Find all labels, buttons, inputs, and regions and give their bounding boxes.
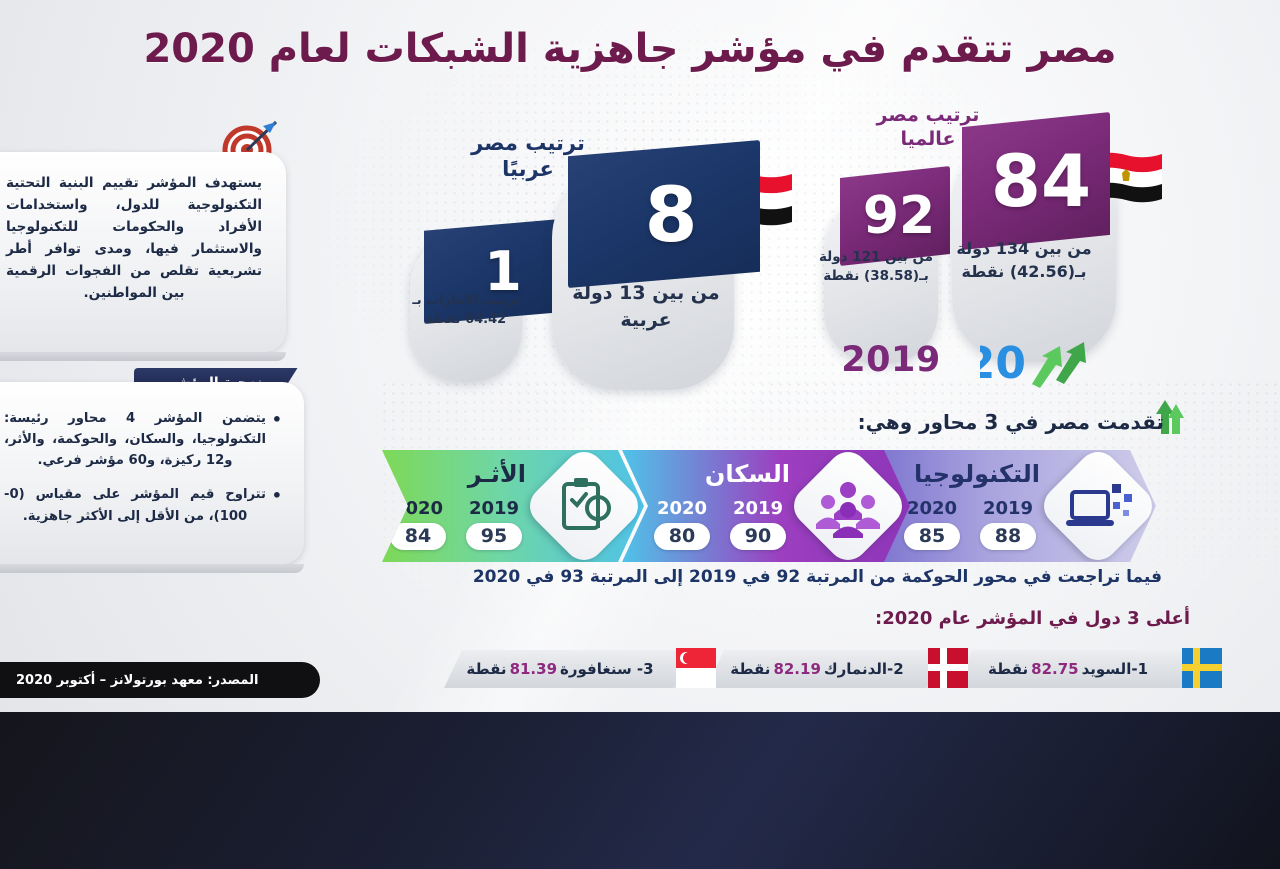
year-label-2020: 2020 (654, 498, 710, 519)
pillar-population-title: السكان (705, 460, 790, 488)
pillar-technology-2019: 2019 88 (980, 498, 1036, 550)
top-country-1-score: 82.75 (1031, 660, 1078, 678)
egypt-arab-rank-number: 8 (568, 140, 760, 288)
pillar-population: السكان 2019 90 2020 80 (622, 450, 910, 562)
pillar-population-2020: 2020 80 (654, 498, 710, 550)
infographic-page: مصر تتقدم في مؤشر جاهزية الشبكات لعام 20… (0, 0, 1280, 869)
denmark-flag-icon (928, 648, 968, 688)
pillar-population-2019: 2019 90 (730, 498, 786, 550)
global-2020-band: 84 (962, 112, 1110, 250)
methodology-item: تتراوح قيم المؤشر على مقياس (0-100)، من … (4, 484, 282, 526)
egypt-arab-rank-caption: من بين 13 دولة عربية (560, 280, 732, 334)
top-country-2-score: 82.19 (773, 660, 820, 678)
pillar-impact-years: 2019 95 2020 84 (390, 498, 522, 550)
pillar-technology: التكنولوجيا 2019 88 2020 85 (880, 450, 1156, 562)
year-label-2020: 2020 (904, 498, 960, 519)
axes-heading: تقدمت مصر في 3 محاور وهي: (858, 410, 1164, 434)
pillar-technology-title: التكنولوجيا (914, 460, 1040, 488)
clipboard-check-icon (522, 444, 646, 568)
global-2020-year-graphic: 20 20 (980, 330, 1100, 388)
pillar-population-value-2019: 90 (730, 523, 786, 550)
global-2019-caption: من بين 121 دولة بـ(38.58) نقطة (818, 248, 934, 286)
year-label-2019: 2019 (980, 498, 1036, 519)
year-label-2019: 2019 (730, 498, 786, 519)
pillar-population-years: 2019 90 2020 80 (654, 498, 786, 550)
egypt-arab-rank-band: 8 (568, 140, 760, 288)
methodology-item: يتضمن المؤشر 4 محاور رئيسة: التكنولوجيا،… (4, 408, 282, 471)
uae-rank-caption: ترتيب الإمارات بـ 64.42 نقطة (400, 292, 532, 330)
pillars-strip: التكنولوجيا 2019 88 2020 85 (400, 450, 1156, 562)
global-2019-year-label: 2019 (836, 340, 946, 380)
top-country-1: 1-السويد 82.75 نقطة (954, 650, 1182, 688)
pillar-technology-2020: 2020 85 (904, 498, 960, 550)
top-country-3-unit: نقطة (466, 660, 506, 678)
footer: مؤشر جاهزية الشبكات مجلس الوزراء المصرى … (0, 712, 1280, 869)
page-title: مصر تتقدم في مؤشر جاهزية الشبكات لعام 20… (130, 26, 1130, 72)
top-country-3-score: 81.39 (510, 660, 557, 678)
top-country-2-unit: نقطة (730, 660, 770, 678)
pillar-impact: الأثـر 2019 95 2020 84 (382, 450, 644, 562)
source-strip: المصدر: معهد بورتولانز – أكتوبر 2020 (0, 662, 320, 698)
objective-text: يستهدف المؤشر تقييم البنية التحتية التكن… (0, 152, 286, 318)
sweden-flag-icon (1182, 648, 1222, 688)
top-country-1-name: 1-السويد (1082, 660, 1148, 678)
top-country-3-name: 3- سنغافورة (560, 660, 654, 678)
top-country-1-unit: نقطة (988, 660, 1028, 678)
top-countries-heading: أعلى 3 دول في المؤشر عام 2020: (875, 608, 1190, 629)
global-2020-caption: من بين 134 دولة بـ(42.56) نقطة (948, 238, 1100, 283)
singapore-flag-icon (676, 648, 716, 688)
svg-text:20: 20 (980, 338, 1026, 388)
top-country-2: 2-الدنمارك 82.19 نقطة (706, 650, 928, 688)
pillar-impact-value-2019: 95 (466, 523, 522, 550)
pillar-population-value-2020: 80 (654, 523, 710, 550)
methodology-panel: يتضمن المؤشر 4 محاور رئيسة: التكنولوجيا،… (0, 382, 304, 564)
global-2020-rank-number: 84 (962, 112, 1110, 250)
pillar-impact-value-2020: 84 (390, 523, 446, 550)
pillar-impact-2019: 2019 95 (466, 498, 522, 550)
laptop-network-icon (1036, 444, 1160, 568)
pillar-technology-value-2020: 85 (904, 523, 960, 550)
objective-panel: يستهدف المؤشر تقييم البنية التحتية التكن… (0, 152, 286, 352)
year-label-2019: 2019 (466, 498, 522, 519)
governance-note: فيما تراجعت في محور الحوكمة من المرتبة 9… (473, 567, 1162, 587)
pillar-technology-years: 2019 88 2020 85 (904, 498, 1036, 550)
top-country-2-name: 2-الدنمارك (824, 660, 904, 678)
pillar-impact-title: الأثـر (468, 460, 526, 488)
methodology-list: يتضمن المؤشر 4 محاور رئيسة: التكنولوجيا،… (0, 382, 304, 550)
pillar-technology-value-2019: 88 (980, 523, 1036, 550)
top-country-3: 3- سنغافورة 81.39 نقطة (444, 650, 676, 688)
